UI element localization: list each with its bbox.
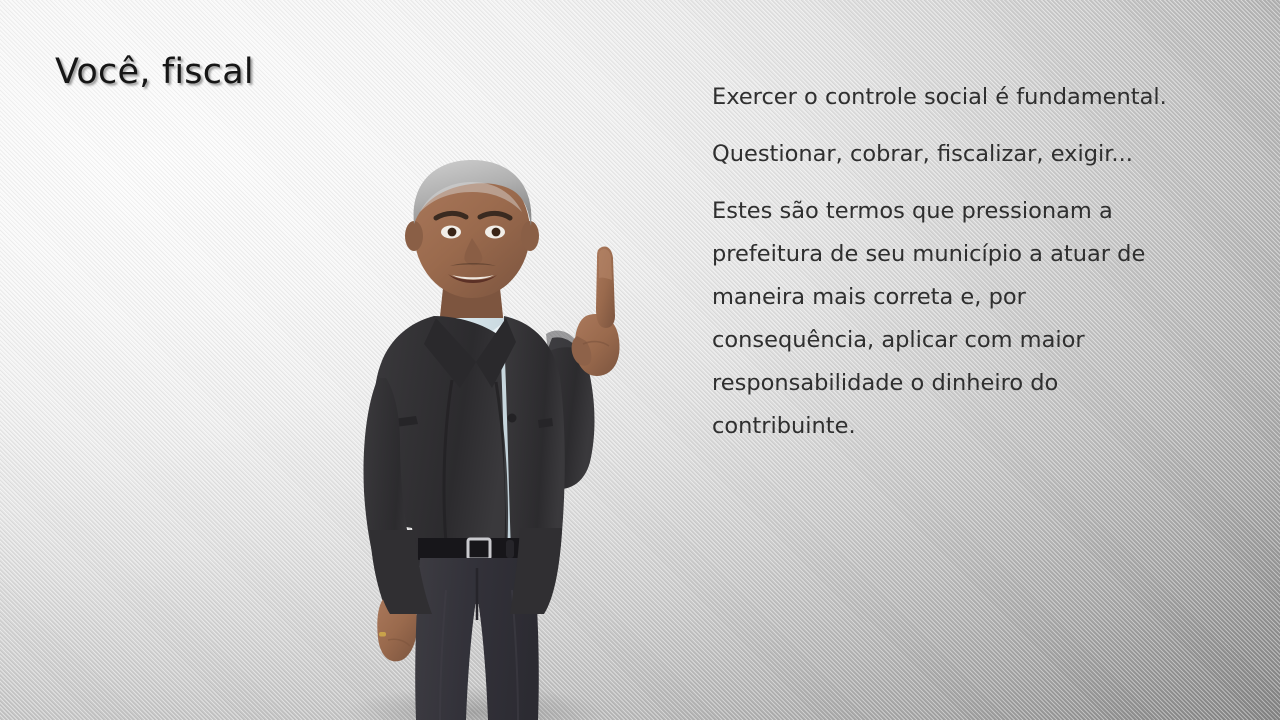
body-paragraph-2: Questionar, cobrar, fiscalizar, exigir..… xyxy=(712,133,1172,176)
photo-man-pointing-up xyxy=(300,120,670,720)
slide-body-text: Exercer o controle social é fundamental.… xyxy=(712,76,1172,448)
figure-ear-right xyxy=(521,221,539,251)
figure-belt xyxy=(418,538,534,560)
figure-ear-left xyxy=(405,221,423,251)
figure-finger-highlight xyxy=(599,249,612,280)
figure-jacket-button xyxy=(508,414,517,423)
figure-pupil-right xyxy=(492,228,501,237)
figure-pupil-left xyxy=(448,228,457,237)
page-title: Você, fiscal xyxy=(55,52,254,92)
figure-belt-loop xyxy=(506,540,514,558)
figure-illustration xyxy=(300,120,670,720)
presentation-slide: Você, fiscal xyxy=(0,0,1280,720)
figure-ring xyxy=(379,632,386,637)
body-paragraph-1: Exercer o controle social é fundamental. xyxy=(712,76,1172,119)
figure-shadow xyxy=(345,686,605,720)
body-paragraph-3: Estes são termos que pressionam a prefei… xyxy=(712,190,1172,448)
